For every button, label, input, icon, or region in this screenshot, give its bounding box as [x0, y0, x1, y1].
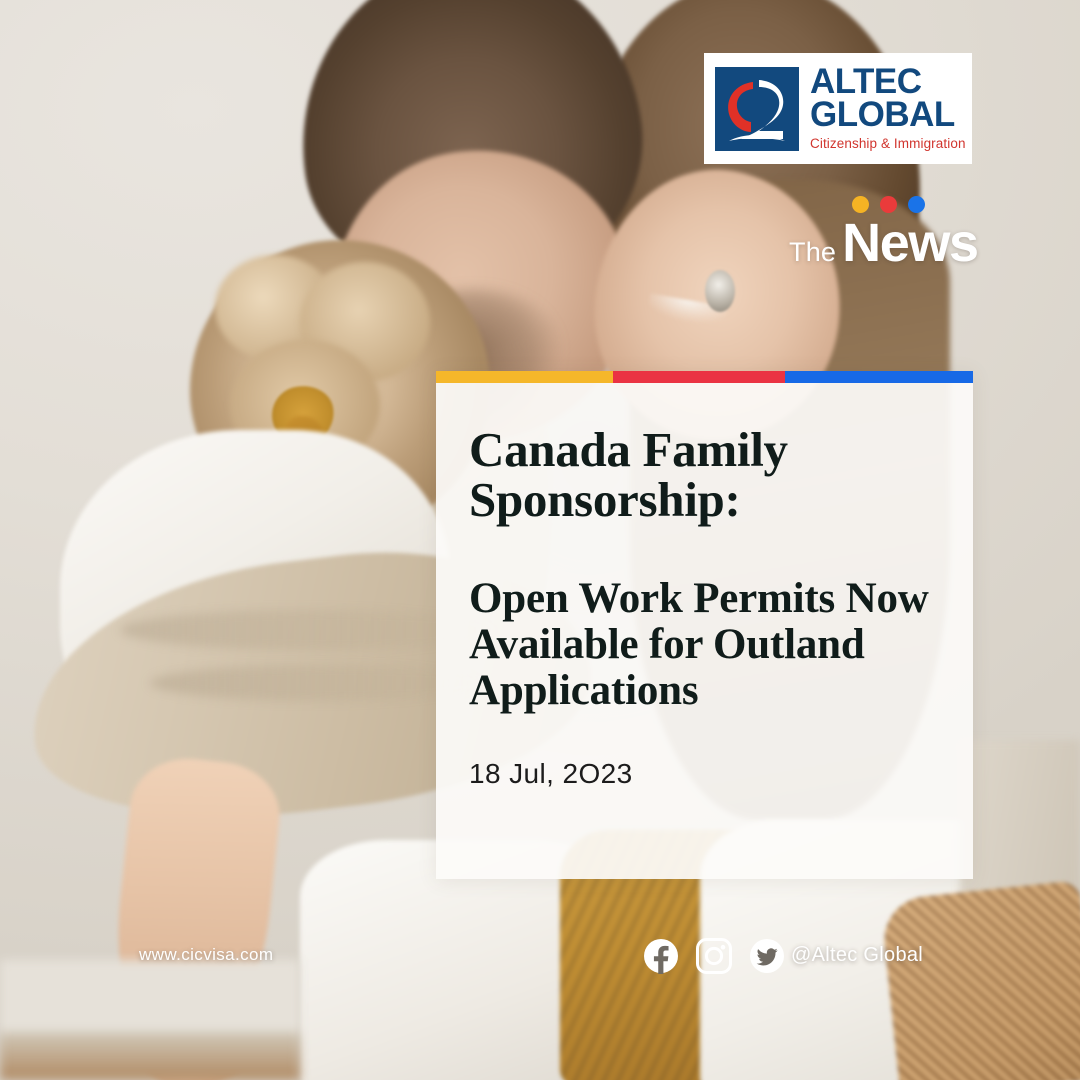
footer-social-links	[643, 938, 785, 974]
article-headline: Canada Family Sponsorship:	[469, 425, 939, 526]
altec-swoosh-icon	[715, 67, 799, 151]
news-word: News	[842, 216, 977, 270]
photo-baseboard	[0, 960, 300, 1080]
logo-name-altec: ALTEC	[810, 66, 966, 98]
the-news-badge: The News	[789, 196, 978, 270]
facebook-icon[interactable]	[643, 938, 679, 974]
card-accent-bar	[436, 371, 973, 383]
article-card: Canada Family Sponsorship: Open Work Per…	[436, 371, 973, 879]
dot-yellow	[852, 196, 869, 213]
logo-name-global: GLOBAL	[810, 99, 966, 131]
news-dots	[852, 196, 978, 213]
news-wordmark: The News	[789, 216, 978, 270]
altec-global-logo[interactable]: ALTEC GLOBAL Citizenship & Immigration	[704, 53, 972, 164]
bar-yellow	[436, 371, 613, 383]
twitter-icon[interactable]	[749, 938, 785, 974]
photo-mother-earring	[705, 270, 735, 312]
bar-red	[613, 371, 785, 383]
footer-handle[interactable]: @Altec Global	[791, 944, 923, 967]
bar-blue	[785, 371, 973, 383]
instagram-icon[interactable]	[696, 938, 732, 974]
article-date: 18 Jul, 2O23	[469, 758, 939, 790]
news-prefix: The	[789, 237, 836, 268]
dot-blue	[908, 196, 925, 213]
footer-website[interactable]: www.cicvisa.com	[139, 945, 273, 965]
logo-wordmark: ALTEC GLOBAL Citizenship & Immigration	[810, 66, 966, 150]
dot-red	[880, 196, 897, 213]
news-poster: ALTEC GLOBAL Citizenship & Immigration T…	[0, 0, 1080, 1080]
logo-tagline: Citizenship & Immigration	[810, 136, 966, 151]
card-body: Canada Family Sponsorship: Open Work Per…	[436, 383, 973, 790]
photo-wicker-basket	[880, 880, 1080, 1080]
article-subheadline: Open Work Permits Now Available for Outl…	[469, 576, 939, 714]
